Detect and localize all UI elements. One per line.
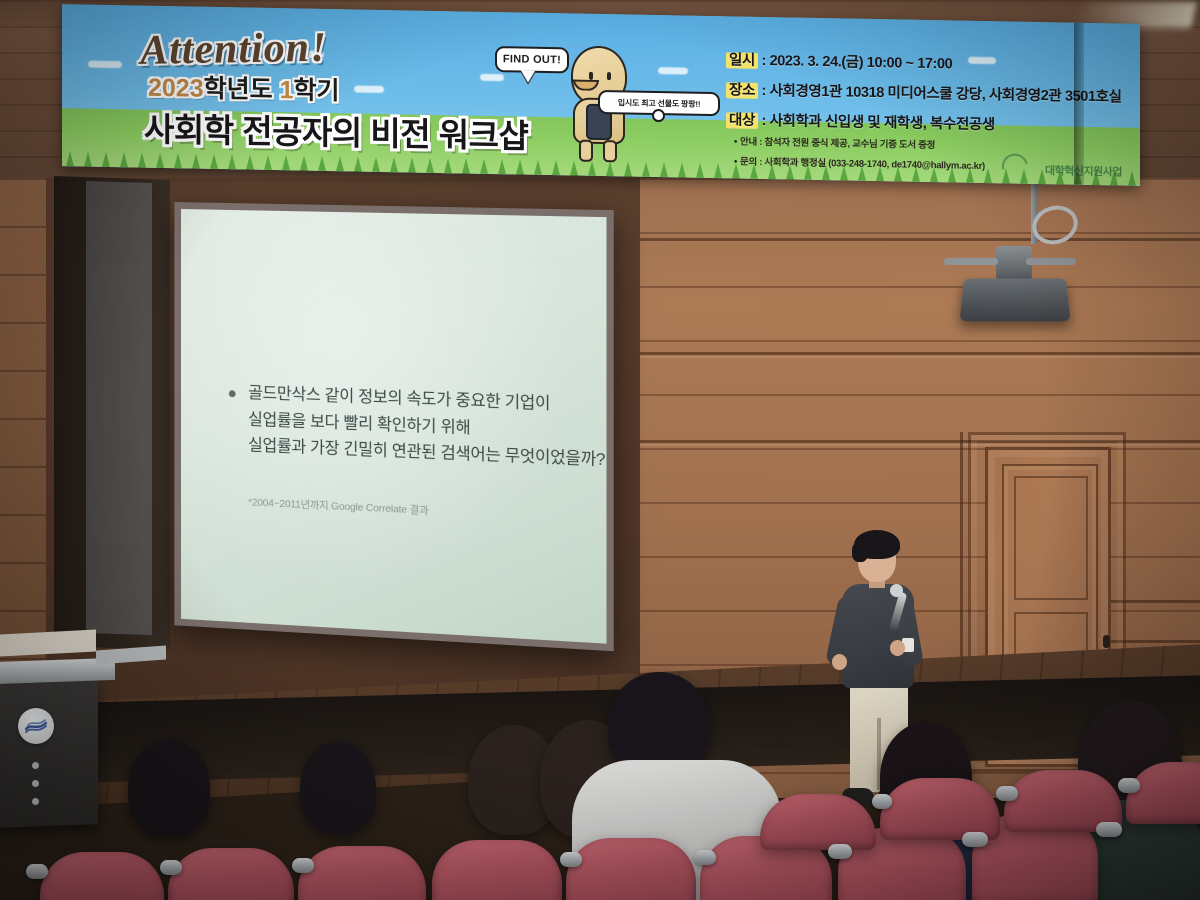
banner-info-value: 사회경영1관 10318 미디어스쿨 강당, 사회경영2관 3501호실 bbox=[770, 83, 1122, 105]
emblem-wave-icon bbox=[24, 717, 48, 735]
door-panel-upper bbox=[1014, 476, 1088, 600]
speech-bubble-prize: 입시도 최고 선물도 팡팡!! bbox=[598, 90, 720, 116]
seat bbox=[880, 778, 1000, 840]
banner-info-key: 장소 bbox=[726, 82, 758, 99]
banner-seam bbox=[1074, 23, 1084, 185]
seat bbox=[40, 852, 164, 900]
seat-armrest bbox=[828, 844, 852, 859]
banner-subheadline: 2023학년도 1학기 bbox=[148, 68, 340, 108]
lecture-hall-photo: Attention! 2023학년도 1학기 사회학 전공자의 비전 워크샵 F… bbox=[0, 0, 1200, 900]
banner-year: 2023 bbox=[148, 74, 204, 103]
banner-title: 사회학 전공자의 비전 워크샵 bbox=[144, 103, 528, 158]
seat-armrest bbox=[160, 860, 182, 875]
seat bbox=[432, 840, 562, 900]
banner-note-text: 안내 : 참석자 전원 중식 제공, 교수님 기증 도서 증정 bbox=[740, 137, 935, 152]
seat-armrest bbox=[26, 864, 48, 879]
podium-control-button[interactable] bbox=[32, 762, 39, 769]
wood-strip-left bbox=[0, 178, 46, 698]
seat-armrest bbox=[872, 794, 892, 809]
banner-semester-number: 1 bbox=[280, 76, 294, 104]
seat-armrest bbox=[996, 786, 1018, 801]
presenter-hair bbox=[854, 530, 900, 559]
wall-trim-line bbox=[640, 352, 1200, 355]
seat-armrest bbox=[1118, 778, 1140, 793]
seat bbox=[168, 848, 294, 900]
wall-trim-line bbox=[640, 238, 1200, 241]
cloud-icon bbox=[88, 61, 122, 69]
banner-info-value: 사회학과 신입생 및 재학생, 복수전공생 bbox=[770, 113, 995, 133]
event-banner: Attention! 2023학년도 1학기 사회학 전공자의 비전 워크샵 F… bbox=[62, 4, 1140, 186]
slide-bullet-group: 골드만삭스 같이 정보의 속도가 중요한 기업이 실업률을 보다 빨리 확인하기… bbox=[227, 379, 592, 474]
cloud-icon bbox=[354, 85, 384, 93]
audience-head bbox=[300, 742, 376, 834]
seat-armrest bbox=[1096, 822, 1122, 837]
mascot-leg bbox=[579, 140, 593, 162]
seat-armrest bbox=[962, 832, 988, 847]
cloud-icon bbox=[480, 74, 504, 81]
door-handle[interactable] bbox=[1103, 635, 1110, 648]
bullet-icon: • bbox=[734, 156, 737, 167]
banner-info-key: 일시 bbox=[726, 52, 758, 69]
banner-note-text: 문의 : 사회학과 행정실 (033-248-1740, de1740@hall… bbox=[740, 157, 985, 172]
seat-armrest bbox=[694, 850, 716, 865]
seat bbox=[566, 838, 696, 900]
presenter-hand bbox=[890, 640, 905, 656]
audience-head bbox=[128, 740, 210, 836]
mascot-leg bbox=[603, 140, 617, 162]
seat-armrest bbox=[292, 858, 314, 873]
wall-trim-highlight bbox=[640, 356, 1200, 358]
podium-control-button[interactable] bbox=[32, 780, 39, 787]
university-emblem bbox=[18, 708, 54, 744]
seat-armrest bbox=[560, 852, 582, 867]
podium bbox=[0, 674, 98, 828]
seat bbox=[760, 794, 876, 850]
banner-semester-suffix: 학기 bbox=[294, 76, 340, 105]
banner-info-key: 대상 bbox=[726, 112, 758, 129]
slide-footnote: *2004~2011년까지 Google Correlate 결과 bbox=[248, 494, 428, 517]
bullet-icon: • bbox=[734, 136, 737, 147]
projector-bracket-wing bbox=[1026, 258, 1076, 265]
microphone-head-icon bbox=[890, 584, 903, 597]
ceiling-projector bbox=[960, 279, 1071, 322]
mascot-eye bbox=[589, 72, 593, 80]
slide-content: 골드만삭스 같이 정보의 속도가 중요한 기업이 실업률을 보다 빨리 확인하기… bbox=[227, 379, 592, 474]
banner-info-value: 2023. 3. 24.(금) 10:00 ~ 17:00 bbox=[770, 53, 953, 72]
podium-control-button[interactable] bbox=[32, 798, 39, 805]
speech-bubble-find-out: FIND OUT! bbox=[495, 46, 569, 73]
projector-bracket-wing bbox=[944, 258, 998, 265]
banner-year-suffix: 학년도 bbox=[204, 75, 273, 104]
stage-wall-panel-left bbox=[86, 181, 152, 635]
mascot-eye bbox=[607, 72, 611, 80]
projection-screen-frame: 골드만삭스 같이 정보의 속도가 중요한 기업이 실업률을 보다 빨리 확인하기… bbox=[174, 202, 613, 651]
seat bbox=[298, 846, 426, 900]
projection-screen: 골드만삭스 같이 정보의 속도가 중요한 기업이 실업률을 보다 빨리 확인하기… bbox=[181, 209, 607, 644]
cloud-icon bbox=[658, 67, 688, 75]
presenter-hand bbox=[832, 654, 847, 670]
